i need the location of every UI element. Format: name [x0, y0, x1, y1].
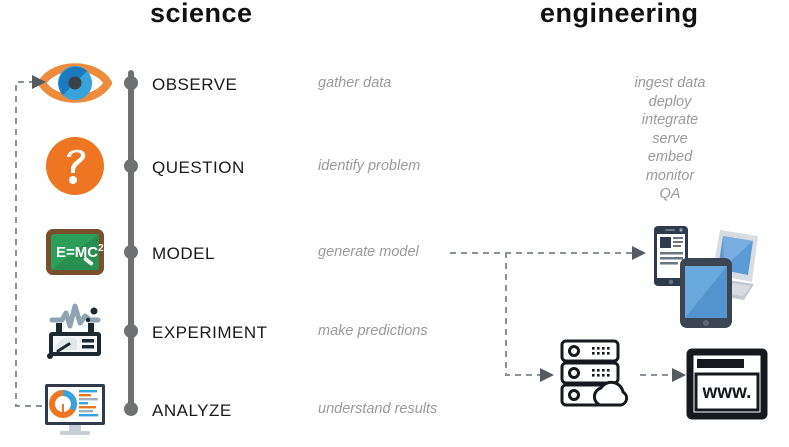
diagram-canvas: science engineering observe gather data [0, 0, 789, 443]
step-label-analyze: analyze [152, 395, 232, 423]
science-step-question[interactable]: question identify problem [0, 130, 470, 202]
server-cloud-icon [556, 337, 640, 409]
science-step-observe[interactable]: observe gather data [0, 47, 470, 119]
mobile-devices-icon [648, 222, 766, 330]
step-label-observe: observe [152, 69, 237, 97]
engineering-task-list: ingest data deploy integrate serve embed… [590, 74, 750, 204]
step-label-experiment: experiment [152, 317, 268, 345]
browser-window-icon: www. [686, 348, 768, 420]
chalkboard-icon: E=MC2 [36, 219, 114, 285]
dashboard-monitor-icon [36, 376, 114, 442]
engineering-task: deploy [590, 93, 750, 112]
engineering-task: integrate [590, 111, 750, 130]
instrument-icon [36, 298, 114, 364]
science-step-analyze[interactable]: analyze understand results [0, 373, 470, 445]
engineering-task: embed [590, 148, 750, 167]
step-sub-question: identify problem [318, 158, 420, 174]
question-mark-icon [36, 133, 114, 199]
step-sub-model: generate model [318, 244, 419, 260]
science-column-title: science [150, 0, 253, 29]
step-sub-analyze: understand results [318, 401, 437, 417]
engineering-task: monitor [590, 167, 750, 186]
step-sub-experiment: make predictions [318, 323, 428, 339]
chalkboard-formula-text: E=MC2 [56, 243, 104, 261]
step-sub-observe: gather data [318, 75, 391, 91]
eye-icon [36, 50, 114, 116]
science-step-model[interactable]: E=MC2 model generate model [0, 216, 470, 288]
step-label-question: question [152, 152, 245, 180]
step-label-model: model [152, 238, 215, 266]
engineering-task: ingest data [590, 74, 750, 93]
engineering-column-title: engineering [540, 0, 699, 29]
engineering-task: QA [590, 185, 750, 204]
browser-url-text: www. [702, 382, 752, 403]
engineering-task: serve [590, 130, 750, 149]
science-step-experiment[interactable]: experiment make predictions [0, 295, 470, 367]
